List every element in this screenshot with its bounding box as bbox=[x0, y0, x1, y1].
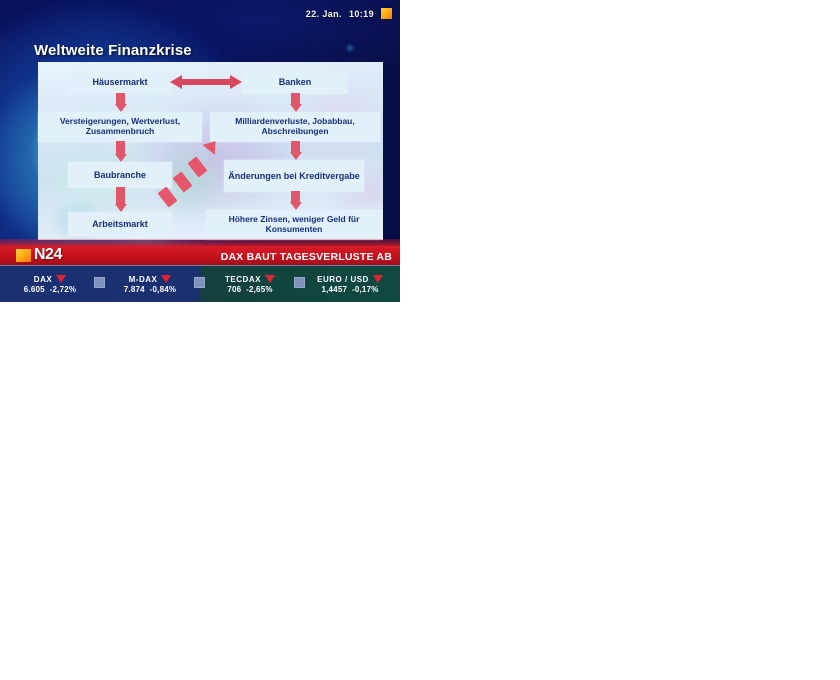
node-label: Versteigerungen, Wertverlust, Zusammenbr… bbox=[38, 117, 202, 137]
node-milliardenverluste: Milliardenverluste, Jobabbau, Abschreibu… bbox=[210, 112, 380, 142]
arrow-双-bidirectional-icon bbox=[170, 75, 242, 89]
node-label: Banken bbox=[275, 77, 316, 87]
node-aenderungen-kreditvergabe: Änderungen bei Kreditvergabe bbox=[224, 160, 364, 192]
node-versteigerungen: Versteigerungen, Wertverlust, Zusammenbr… bbox=[38, 112, 202, 142]
arrow-down-icon bbox=[289, 191, 302, 210]
triangle-down-icon bbox=[265, 275, 275, 283]
arrow-diagonal-dashed-icon bbox=[158, 140, 224, 210]
node-haeusermarkt: Häusermarkt bbox=[68, 70, 172, 94]
node-label: Baubranche bbox=[90, 170, 150, 180]
stock-ticker: DAX 6.605 -2,72% M-DAX 7.874 -0,84% TECD… bbox=[0, 265, 400, 302]
arrow-down-icon bbox=[114, 141, 127, 162]
node-arbeitsmarkt: Arbeitsmarkt bbox=[68, 212, 172, 236]
orange-square-icon bbox=[16, 249, 31, 262]
broadcast-date: 22. Jan. bbox=[306, 9, 342, 19]
ticker-value: 6.605 bbox=[24, 285, 45, 294]
node-label: Milliardenverluste, Jobabbau, Abschreibu… bbox=[210, 117, 380, 137]
channel-name: N24 bbox=[34, 246, 62, 264]
news-crawl-text: DAX BAUT TAGESVERLUSTE AB bbox=[221, 251, 392, 263]
ticker-value: 7.874 bbox=[124, 285, 145, 294]
ticker-item-dax: DAX 6.605 -2,72% bbox=[0, 266, 100, 302]
ticker-item-euro-usd: EURO / USD 1,4457 -0,17% bbox=[300, 266, 400, 302]
triangle-down-icon bbox=[373, 275, 383, 283]
node-baubranche: Baubranche bbox=[68, 162, 172, 188]
orange-square-icon bbox=[381, 8, 392, 19]
page-title: Weltweite Finanzkrise bbox=[34, 42, 192, 59]
diagram-panel: Häusermarkt Versteigerungen, Wertverlust… bbox=[38, 62, 383, 240]
arrow-down-icon bbox=[114, 187, 127, 212]
channel-logo: N24 bbox=[16, 246, 62, 264]
ticker-value: 706 bbox=[227, 285, 241, 294]
ticker-name: EURO / USD bbox=[317, 275, 369, 284]
ticker-name: M-DAX bbox=[129, 275, 158, 284]
triangle-down-icon bbox=[56, 275, 66, 283]
ticker-name: TECDAX bbox=[225, 275, 261, 284]
datetime-overlay: 22. Jan. 10:19 bbox=[306, 8, 392, 19]
ticker-item-tecdax: TECDAX 706 -2,65% bbox=[200, 266, 300, 302]
node-label: Arbeitsmarkt bbox=[88, 219, 152, 229]
ticker-change: -2,72% bbox=[50, 285, 77, 294]
node-label: Änderungen bei Kreditvergabe bbox=[224, 171, 364, 181]
triangle-down-icon bbox=[161, 275, 171, 283]
node-banken: Banken bbox=[243, 70, 347, 94]
arrow-down-icon bbox=[114, 93, 127, 112]
ticker-item-mdax: M-DAX 7.874 -0,84% bbox=[100, 266, 200, 302]
ticker-change: -2,65% bbox=[246, 285, 273, 294]
ticker-value: 1,4457 bbox=[321, 285, 347, 294]
broadcast-time: 10:19 bbox=[349, 9, 374, 19]
arrow-down-icon bbox=[289, 141, 302, 160]
node-hoehere-zinsen: Höhere Zinsen, weniger Geld für Konsumen… bbox=[206, 210, 382, 240]
arrow-down-icon bbox=[289, 93, 302, 112]
node-label: Häusermarkt bbox=[88, 77, 151, 87]
ticker-name: DAX bbox=[34, 275, 52, 284]
ticker-change: -0,17% bbox=[352, 285, 379, 294]
node-label: Höhere Zinsen, weniger Geld für Konsumen… bbox=[206, 215, 382, 235]
tv-broadcast-frame: 22. Jan. 10:19 Weltweite Finanzkrise Häu… bbox=[0, 0, 400, 302]
ticker-change: -0,84% bbox=[150, 285, 177, 294]
